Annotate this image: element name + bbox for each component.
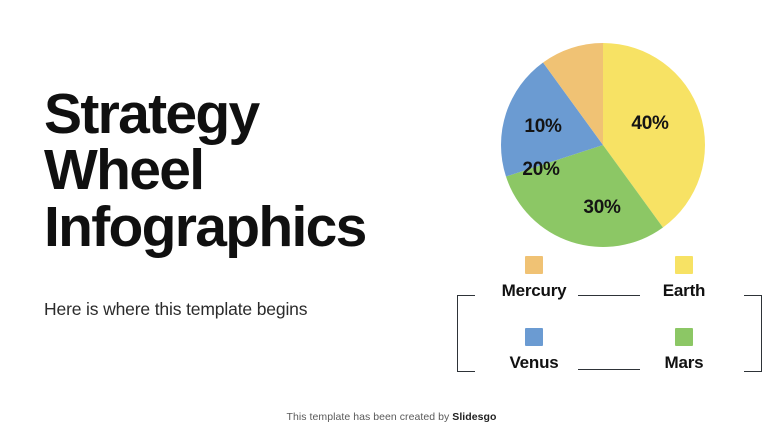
pie-chart: 40% 30% 20% 10% (501, 43, 705, 247)
page-subtitle: Here is where this template begins (44, 299, 307, 320)
footer-credit: This template has been created by Slides… (0, 411, 783, 423)
chart-legend: Mercury Venus Earth Mars (459, 256, 759, 391)
legend-item-mars[interactable]: Mars (609, 328, 759, 371)
legend-label-venus: Venus (459, 354, 609, 371)
legend-label-earth: Earth (609, 282, 759, 299)
legend-swatch-mercury (525, 256, 543, 274)
legend-item-mercury[interactable]: Mercury (459, 256, 609, 299)
legend-label-mercury: Mercury (459, 282, 609, 299)
slide-canvas: Strategy Wheel Infographics Here is wher… (0, 0, 783, 440)
legend-label-mars: Mars (609, 354, 759, 371)
legend-column-right: Earth Mars (609, 256, 759, 391)
legend-swatch-earth (675, 256, 693, 274)
legend-swatch-venus (525, 328, 543, 346)
legend-column-left: Mercury Venus (459, 256, 609, 391)
title-line-1: Strategy (44, 86, 444, 142)
pie-label-mercury: 10% (524, 116, 561, 138)
legend-item-earth[interactable]: Earth (609, 256, 759, 299)
title-line-3: Infographics (44, 199, 444, 255)
legend-swatch-mars (675, 328, 693, 346)
pie-label-mars: 30% (583, 197, 620, 219)
footer-text: This template has been created by (287, 411, 450, 423)
title-line-2: Wheel (44, 142, 444, 198)
pie-label-earth: 40% (631, 113, 668, 135)
footer-brand: Slidesgo (452, 411, 496, 423)
title-block: Strategy Wheel Infographics Here is wher… (44, 86, 444, 255)
page-title: Strategy Wheel Infographics (44, 86, 444, 255)
pie-label-venus: 20% (522, 159, 559, 181)
legend-item-venus[interactable]: Venus (459, 328, 609, 371)
